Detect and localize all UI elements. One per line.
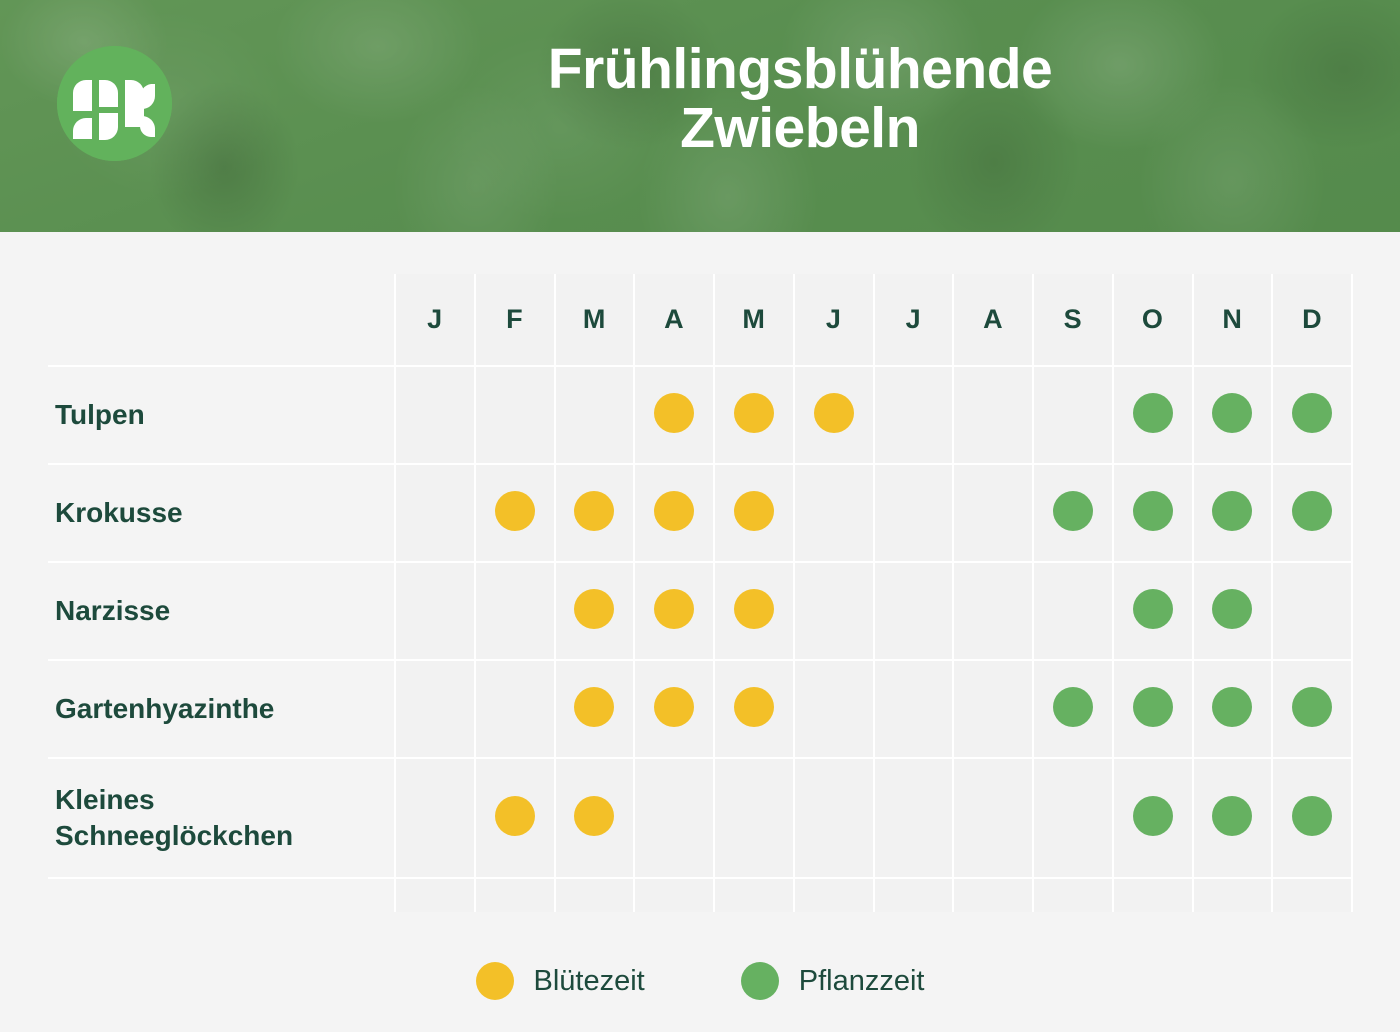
status-dot bbox=[574, 393, 614, 433]
status-dot bbox=[1133, 589, 1173, 629]
status-dot bbox=[415, 687, 455, 727]
status-dot bbox=[495, 589, 535, 629]
table-row: Kleines Schneeglöckchen bbox=[48, 758, 1352, 878]
cell-tulpen-jan bbox=[395, 366, 475, 464]
footer-cell-mar bbox=[555, 878, 635, 912]
month-header-row: J F M A M J J A S O N D bbox=[48, 274, 1352, 366]
month-header-aug: A bbox=[953, 274, 1033, 366]
cell-gartenhyazinthe-jun bbox=[794, 660, 874, 758]
status-dot bbox=[893, 491, 933, 531]
status-dot bbox=[973, 393, 1013, 433]
legend-label-plant: Pflanzzeit bbox=[799, 965, 925, 998]
status-dot bbox=[814, 589, 854, 629]
bulb-calendar-table: J F M A M J J A S O N D Tulpen bbox=[48, 274, 1353, 912]
footer-cell-feb bbox=[475, 878, 555, 912]
footer-cell-dec bbox=[1272, 878, 1352, 912]
footer-cell-apr bbox=[634, 878, 714, 912]
status-dot bbox=[814, 393, 854, 433]
cell-tulpen-oct bbox=[1113, 366, 1193, 464]
row-label-narzisse: Narzisse bbox=[48, 562, 395, 660]
cell-schneegloeckchen-jun bbox=[794, 758, 874, 878]
footer-cell-nov bbox=[1193, 878, 1273, 912]
cell-tulpen-jul bbox=[874, 366, 954, 464]
cell-krokusse-jul bbox=[874, 464, 954, 562]
infographic-page: Frühlingsblühende Zwiebeln J F M A M J bbox=[0, 0, 1400, 1032]
status-dot bbox=[654, 491, 694, 531]
cell-gartenhyazinthe-sep bbox=[1033, 660, 1113, 758]
cell-tulpen-mar bbox=[555, 366, 635, 464]
calendar-grid-section: J F M A M J J A S O N D Tulpen bbox=[0, 232, 1400, 1032]
cell-narzisse-dec bbox=[1272, 562, 1352, 660]
cell-krokusse-sep bbox=[1033, 464, 1113, 562]
status-dot bbox=[1212, 393, 1252, 433]
status-dot bbox=[574, 687, 614, 727]
leaf-bars-logo-icon bbox=[57, 46, 172, 161]
corner-cell bbox=[48, 274, 395, 366]
status-dot bbox=[654, 393, 694, 433]
footer-label-cell bbox=[48, 878, 395, 912]
footer-cell-jan bbox=[395, 878, 475, 912]
cell-tulpen-aug bbox=[953, 366, 1033, 464]
bloom-swatch-icon bbox=[476, 962, 514, 1000]
status-dot bbox=[1053, 491, 1093, 531]
cell-schneegloeckchen-nov bbox=[1193, 758, 1273, 878]
month-header-nov: N bbox=[1193, 274, 1273, 366]
table-row: Narzisse bbox=[48, 562, 1352, 660]
cell-gartenhyazinthe-jan bbox=[395, 660, 475, 758]
month-header-jun: J bbox=[794, 274, 874, 366]
cell-narzisse-jul bbox=[874, 562, 954, 660]
status-dot bbox=[1133, 393, 1173, 433]
status-dot bbox=[814, 796, 854, 836]
status-dot bbox=[1133, 796, 1173, 836]
cell-narzisse-nov bbox=[1193, 562, 1273, 660]
status-dot bbox=[495, 393, 535, 433]
status-dot bbox=[814, 687, 854, 727]
status-dot bbox=[973, 491, 1013, 531]
cell-schneegloeckchen-jan bbox=[395, 758, 475, 878]
cell-narzisse-jun bbox=[794, 562, 874, 660]
month-header-dec: D bbox=[1272, 274, 1352, 366]
status-dot bbox=[415, 796, 455, 836]
legend-label-bloom: Blütezeit bbox=[534, 965, 645, 998]
status-dot bbox=[415, 393, 455, 433]
status-dot bbox=[415, 589, 455, 629]
cell-krokusse-apr bbox=[634, 464, 714, 562]
cell-schneegloeckchen-may bbox=[714, 758, 794, 878]
footer-cell-jul bbox=[874, 878, 954, 912]
calendar-body: Tulpen Krokusse bbox=[48, 366, 1352, 912]
cell-narzisse-jan bbox=[395, 562, 475, 660]
table-row: Tulpen bbox=[48, 366, 1352, 464]
status-dot bbox=[734, 589, 774, 629]
cell-schneegloeckchen-dec bbox=[1272, 758, 1352, 878]
cell-tulpen-jun bbox=[794, 366, 874, 464]
row-label-krokusse: Krokusse bbox=[48, 464, 395, 562]
status-dot bbox=[973, 796, 1013, 836]
table-footer-strip bbox=[48, 878, 1352, 912]
footer-cell-aug bbox=[953, 878, 1033, 912]
cell-gartenhyazinthe-dec bbox=[1272, 660, 1352, 758]
cell-tulpen-may bbox=[714, 366, 794, 464]
status-dot bbox=[734, 796, 774, 836]
month-header-apr: A bbox=[634, 274, 714, 366]
month-header-feb: F bbox=[475, 274, 555, 366]
status-dot bbox=[814, 491, 854, 531]
footer-cell-sep bbox=[1033, 878, 1113, 912]
legend: Blütezeit Pflanzzeit bbox=[0, 962, 1400, 1000]
status-dot bbox=[1053, 796, 1093, 836]
cell-tulpen-nov bbox=[1193, 366, 1273, 464]
cell-gartenhyazinthe-jul bbox=[874, 660, 954, 758]
status-dot bbox=[1212, 589, 1252, 629]
legend-item-bloom: Blütezeit bbox=[476, 962, 645, 1000]
cell-schneegloeckchen-aug bbox=[953, 758, 1033, 878]
status-dot bbox=[1292, 393, 1332, 433]
cell-narzisse-apr bbox=[634, 562, 714, 660]
table-row: Krokusse bbox=[48, 464, 1352, 562]
page-title: Frühlingsblühende Zwiebeln bbox=[200, 40, 1400, 159]
cell-gartenhyazinthe-mar bbox=[555, 660, 635, 758]
cell-tulpen-apr bbox=[634, 366, 714, 464]
cell-krokusse-jun bbox=[794, 464, 874, 562]
cell-schneegloeckchen-mar bbox=[555, 758, 635, 878]
cell-schneegloeckchen-oct bbox=[1113, 758, 1193, 878]
cell-schneegloeckchen-feb bbox=[475, 758, 555, 878]
status-dot bbox=[1292, 796, 1332, 836]
status-dot bbox=[973, 687, 1013, 727]
cell-krokusse-may bbox=[714, 464, 794, 562]
cell-gartenhyazinthe-oct bbox=[1113, 660, 1193, 758]
brand-logo[interactable] bbox=[57, 46, 172, 161]
cell-schneegloeckchen-sep bbox=[1033, 758, 1113, 878]
status-dot bbox=[654, 796, 694, 836]
cell-krokusse-mar bbox=[555, 464, 635, 562]
status-dot bbox=[1212, 491, 1252, 531]
status-dot bbox=[654, 687, 694, 727]
status-dot bbox=[495, 687, 535, 727]
status-dot bbox=[973, 589, 1013, 629]
cell-krokusse-jan bbox=[395, 464, 475, 562]
month-header-mar: M bbox=[555, 274, 635, 366]
month-header-may: M bbox=[714, 274, 794, 366]
status-dot bbox=[1133, 687, 1173, 727]
status-dot bbox=[1292, 687, 1332, 727]
status-dot bbox=[1292, 491, 1332, 531]
cell-schneegloeckchen-jul bbox=[874, 758, 954, 878]
cell-tulpen-dec bbox=[1272, 366, 1352, 464]
cell-narzisse-sep bbox=[1033, 562, 1113, 660]
cell-gartenhyazinthe-may bbox=[714, 660, 794, 758]
status-dot bbox=[734, 491, 774, 531]
cell-krokusse-dec bbox=[1272, 464, 1352, 562]
footer-cell-oct bbox=[1113, 878, 1193, 912]
footer-cell-may bbox=[714, 878, 794, 912]
status-dot bbox=[893, 796, 933, 836]
status-dot bbox=[574, 796, 614, 836]
cell-gartenhyazinthe-nov bbox=[1193, 660, 1273, 758]
legend-item-plant: Pflanzzeit bbox=[741, 962, 925, 1000]
cell-narzisse-may bbox=[714, 562, 794, 660]
status-dot bbox=[1212, 796, 1252, 836]
cell-narzisse-feb bbox=[475, 562, 555, 660]
cell-tulpen-feb bbox=[475, 366, 555, 464]
status-dot bbox=[1053, 687, 1093, 727]
row-label-gartenhyazinthe: Gartenhyazinthe bbox=[48, 660, 395, 758]
row-label-tulpen: Tulpen bbox=[48, 366, 395, 464]
status-dot bbox=[415, 491, 455, 531]
status-dot bbox=[574, 491, 614, 531]
cell-krokusse-oct bbox=[1113, 464, 1193, 562]
status-dot bbox=[654, 589, 694, 629]
cell-gartenhyazinthe-feb bbox=[475, 660, 555, 758]
row-label-kleines-schneegloeckchen: Kleines Schneeglöckchen bbox=[48, 758, 395, 878]
status-dot bbox=[734, 393, 774, 433]
cell-schneegloeckchen-apr bbox=[634, 758, 714, 878]
plant-swatch-icon bbox=[741, 962, 779, 1000]
cell-narzisse-aug bbox=[953, 562, 1033, 660]
status-dot bbox=[734, 687, 774, 727]
status-dot bbox=[495, 796, 535, 836]
status-dot bbox=[1053, 393, 1093, 433]
status-dot bbox=[893, 589, 933, 629]
month-header-oct: O bbox=[1113, 274, 1193, 366]
status-dot bbox=[1212, 687, 1252, 727]
status-dot bbox=[893, 687, 933, 727]
cell-krokusse-feb bbox=[475, 464, 555, 562]
cell-narzisse-oct bbox=[1113, 562, 1193, 660]
month-header-sep: S bbox=[1033, 274, 1113, 366]
footer-cell-jun bbox=[794, 878, 874, 912]
status-dot bbox=[1053, 589, 1093, 629]
status-dot bbox=[574, 589, 614, 629]
cell-krokusse-nov bbox=[1193, 464, 1273, 562]
month-header-jul: J bbox=[874, 274, 954, 366]
status-dot bbox=[1133, 491, 1173, 531]
cell-tulpen-sep bbox=[1033, 366, 1113, 464]
table-row: Gartenhyazinthe bbox=[48, 660, 1352, 758]
header-banner: Frühlingsblühende Zwiebeln bbox=[0, 0, 1400, 232]
month-header-jan: J bbox=[395, 274, 475, 366]
status-dot bbox=[495, 491, 535, 531]
cell-gartenhyazinthe-aug bbox=[953, 660, 1033, 758]
status-dot bbox=[893, 393, 933, 433]
cell-gartenhyazinthe-apr bbox=[634, 660, 714, 758]
cell-krokusse-aug bbox=[953, 464, 1033, 562]
status-dot bbox=[1292, 589, 1332, 629]
cell-narzisse-mar bbox=[555, 562, 635, 660]
